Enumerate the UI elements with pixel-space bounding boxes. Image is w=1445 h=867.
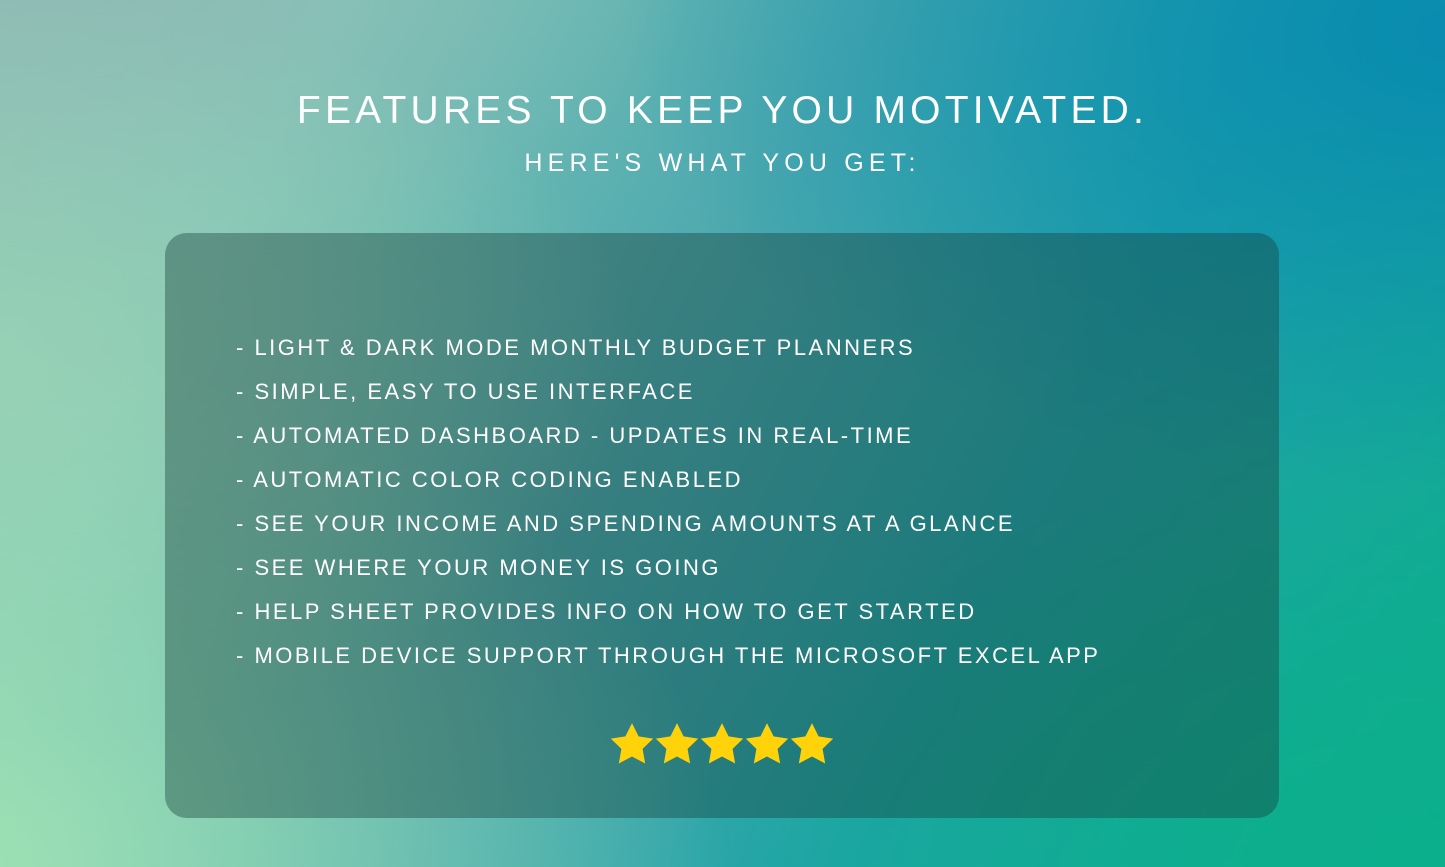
list-item: - SIMPLE, EASY TO USE INTERFACE — [236, 370, 1100, 414]
star-icon — [790, 722, 834, 764]
star-icon — [700, 722, 744, 764]
list-item: - AUTOMATIC COLOR CODING ENABLED — [236, 458, 1100, 502]
list-item: - LIGHT & DARK MODE MONTHLY BUDGET PLANN… — [236, 326, 1100, 370]
star-icon — [655, 722, 699, 764]
star-icon — [745, 722, 789, 764]
page-title: FEATURES TO KEEP YOU MOTIVATED. — [0, 88, 1445, 134]
star-icon — [610, 722, 654, 764]
list-item: - HELP SHEET PROVIDES INFO ON HOW TO GET… — [236, 590, 1100, 634]
header-block: FEATURES TO KEEP YOU MOTIVATED. HERE'S W… — [0, 88, 1445, 178]
feature-card: - LIGHT & DARK MODE MONTHLY BUDGET PLANN… — [165, 233, 1279, 818]
page-subtitle: HERE'S WHAT YOU GET: — [0, 148, 1445, 178]
feature-list: - LIGHT & DARK MODE MONTHLY BUDGET PLANN… — [236, 326, 1100, 678]
promo-graphic: FEATURES TO KEEP YOU MOTIVATED. HERE'S W… — [0, 0, 1445, 867]
star-rating — [165, 722, 1279, 764]
list-item: - MOBILE DEVICE SUPPORT THROUGH THE MICR… — [236, 634, 1100, 678]
list-item: - AUTOMATED DASHBOARD - UPDATES IN REAL-… — [236, 414, 1100, 458]
list-item: - SEE YOUR INCOME AND SPENDING AMOUNTS A… — [236, 502, 1100, 546]
list-item: - SEE WHERE YOUR MONEY IS GOING — [236, 546, 1100, 590]
